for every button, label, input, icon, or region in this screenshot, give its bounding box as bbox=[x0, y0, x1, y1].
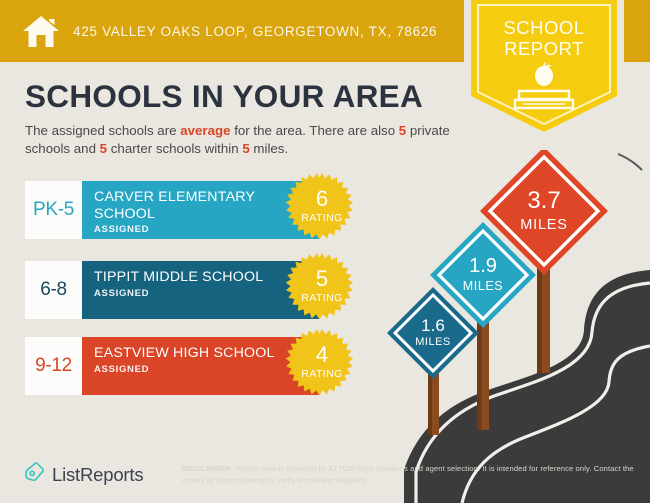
home-icon bbox=[22, 14, 60, 48]
listreports-logo-text: ListReports bbox=[52, 464, 143, 486]
badge-line-1: SCHOOL bbox=[471, 17, 617, 38]
sign-distance-unit: MILES bbox=[385, 336, 481, 348]
listreports-logo[interactable]: ListReports bbox=[24, 462, 143, 488]
sign-distance-value: 1.9 bbox=[428, 255, 538, 278]
rating-badge: 6 RATING bbox=[283, 172, 361, 250]
subtitle-text: The assigned schools are bbox=[25, 123, 180, 138]
grade-range: PK-5 bbox=[25, 181, 82, 239]
rating-value: 5 bbox=[283, 268, 361, 290]
school-row[interactable]: PK-5 CARVER ELEMENTARY SCHOOL ASSIGNED bbox=[25, 181, 320, 239]
grade-range: 6-8 bbox=[25, 261, 82, 319]
subtitle-highlight: average bbox=[180, 123, 230, 138]
subtitle-highlight: 5 bbox=[100, 141, 107, 156]
school-report-badge: SCHOOL REPORT bbox=[471, 0, 617, 132]
disclaimer-label: DISCLAIMER: bbox=[182, 464, 233, 473]
rating-value: 6 bbox=[283, 188, 361, 210]
subtitle-text: for the area. There are also bbox=[231, 123, 399, 138]
sign-distance-value: 1.6 bbox=[385, 316, 481, 336]
grade-range: 9-12 bbox=[25, 337, 82, 395]
distance-sign: 1.6 MILES bbox=[385, 285, 481, 435]
rating-value: 4 bbox=[283, 344, 361, 366]
rating-label: RATING bbox=[283, 212, 361, 224]
rating-badge: 5 RATING bbox=[283, 252, 361, 330]
disclaimer: DISCLAIMER: School data is provided by A… bbox=[182, 463, 642, 486]
disclaimer-text: School data is provided by ATTOM Data So… bbox=[182, 464, 634, 485]
distance-illustration: 3.7 MILES 1.9 MILES 1.6 MILES bbox=[378, 150, 650, 503]
badge-title: SCHOOL REPORT bbox=[471, 17, 617, 59]
sign-distance-value: 3.7 bbox=[478, 187, 610, 215]
subtitle-text: miles. bbox=[250, 141, 288, 156]
listreports-house-icon bbox=[24, 462, 45, 488]
property-address: 425 VALLEY OAKS LOOP, GEORGETOWN, TX, 78… bbox=[73, 24, 437, 39]
subtitle-text: charter schools within bbox=[107, 141, 242, 156]
rating-label: RATING bbox=[283, 292, 361, 304]
page-title: SCHOOLS IN YOUR AREA bbox=[25, 78, 423, 115]
subtitle-highlight: 5 bbox=[242, 141, 249, 156]
rating-badge: 4 RATING bbox=[283, 328, 361, 406]
school-row[interactable]: 6-8 TIPPIT MIDDLE SCHOOL ASSIGNED bbox=[25, 261, 320, 319]
badge-left-notch bbox=[464, 0, 471, 62]
badge-right-notch bbox=[617, 0, 624, 62]
school-row[interactable]: 9-12 EASTVIEW HIGH SCHOOL ASSIGNED bbox=[25, 337, 320, 395]
rating-label: RATING bbox=[283, 368, 361, 380]
badge-line-2: REPORT bbox=[471, 38, 617, 59]
